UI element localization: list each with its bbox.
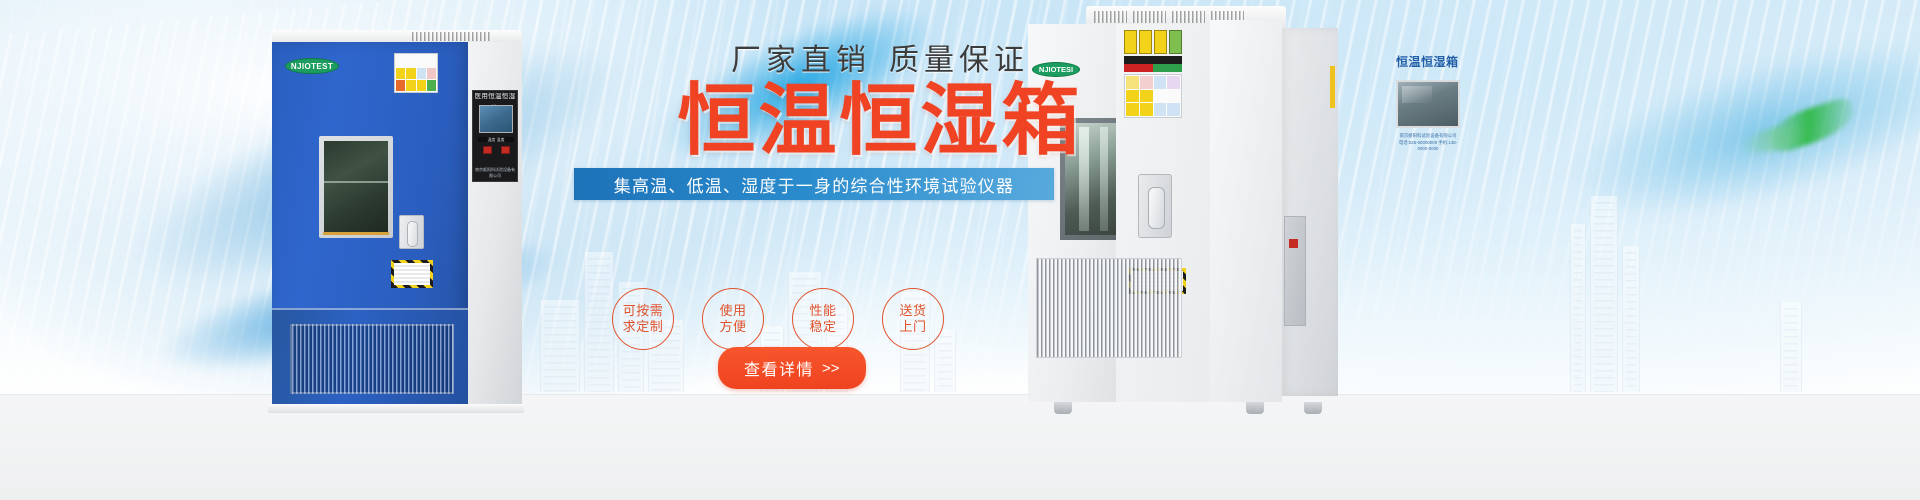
control-panel-company-text: 南京姬阳科试验设备有限公司 xyxy=(475,167,515,179)
manufacturer-contact: 电话:025-00000000 手机:138-0000-0000 xyxy=(1396,140,1460,153)
chevron-right-icon: >> xyxy=(822,360,840,377)
chamber-control-panel[interactable]: 医用恒温恒湿箱 温度 湿度 南京姬阳科试验设备有限公司 xyxy=(472,90,518,182)
chamber-door-handle[interactable] xyxy=(399,215,424,249)
chamber-top-vent xyxy=(412,32,490,41)
feature-line-2: 方便 xyxy=(719,319,746,335)
feature-badge-easy-use[interactable]: 使用 方便 xyxy=(702,288,764,350)
grey-chamber-side-control-box xyxy=(1284,216,1306,326)
product-image-blue-chamber: NJIOTEST 医用恒温恒湿箱 温度 xyxy=(272,30,522,405)
brand-logo-oval: NJIOTEST xyxy=(285,58,339,74)
chamber-window-sill xyxy=(323,232,389,235)
chamber-viewing-window xyxy=(319,136,393,238)
power-button[interactable] xyxy=(483,146,492,154)
manufacturer-name: 南京姬阳科试验设备有限公司 xyxy=(1396,133,1460,140)
grey-chamber-lower-vent-grille xyxy=(1036,258,1182,358)
feature-line-1: 可按需 xyxy=(623,303,664,319)
cta-label: 查看详情 xyxy=(744,356,814,380)
view-details-button[interactable]: 查看详情 >> xyxy=(718,347,866,389)
feature-line-2: 上门 xyxy=(899,319,926,335)
banner-headline: 恒温恒湿箱 xyxy=(560,81,1200,161)
run-button[interactable] xyxy=(501,146,510,154)
banner-subtitle-bar: 集高温、低温、湿度于一身的综合性环境试验仪器 xyxy=(574,168,1054,200)
manufacturer-text: 南京姬阳科试验设备有限公司 电话:025-00000000 手机:138-000… xyxy=(1396,133,1460,153)
chamber-base-plate xyxy=(268,404,524,413)
grey-chamber-feet xyxy=(1036,402,1330,414)
feature-line-1: 送货 xyxy=(899,303,926,319)
chamber-lower-vent-grille xyxy=(290,324,454,394)
product-banner: NJIOTEST 医用恒温恒湿箱 温度 xyxy=(0,0,1920,500)
feature-badge-stable[interactable]: 性能 稳定 xyxy=(792,288,854,350)
eyebrow-left-text: 厂家直销 xyxy=(731,44,871,77)
eyebrow-right-text: 质量保证 xyxy=(889,44,1029,77)
feature-badge-list: 可按需 求定制 使用 方便 性能 稳定 送货 上门 xyxy=(612,288,944,350)
control-panel-readout: 温度 湿度 xyxy=(478,137,514,142)
grey-chamber-touch-screen[interactable] xyxy=(1396,80,1460,128)
feature-line-2: 稳定 xyxy=(809,319,836,335)
product-name-label: 恒温恒湿箱 xyxy=(1396,56,1462,68)
feature-badge-custom[interactable]: 可按需 求定制 xyxy=(612,288,674,350)
grey-chamber-yellow-strip xyxy=(1330,66,1335,108)
control-panel-screen[interactable] xyxy=(479,105,513,133)
feature-line-1: 使用 xyxy=(719,303,746,319)
chamber-control-column: 医用恒温恒湿箱 温度 湿度 南京姬阳科试验设备有限公司 xyxy=(468,42,522,405)
feature-line-1: 性能 xyxy=(809,303,836,319)
grey-chamber-control-face: 恒温恒湿箱 南京姬阳科试验设备有限公司 电话:025-00000000 手机:1… xyxy=(1210,20,1282,402)
warning-sticker-panel xyxy=(394,53,438,93)
banner-copy-block: 厂家直销质量保证 恒温恒湿箱 集高温、低温、湿度于一身的综合性环境试验仪器 xyxy=(560,44,1200,200)
eyebrow-tagline: 厂家直销质量保证 xyxy=(560,44,1200,79)
hazard-warning-label xyxy=(391,260,433,288)
feature-badge-delivery[interactable]: 送货 上门 xyxy=(882,288,944,350)
control-panel-buttons[interactable] xyxy=(478,146,514,168)
control-panel-title: 医用恒温恒湿箱 xyxy=(473,91,517,103)
feature-line-2: 求定制 xyxy=(623,319,664,335)
chamber-window-glass xyxy=(324,141,388,233)
